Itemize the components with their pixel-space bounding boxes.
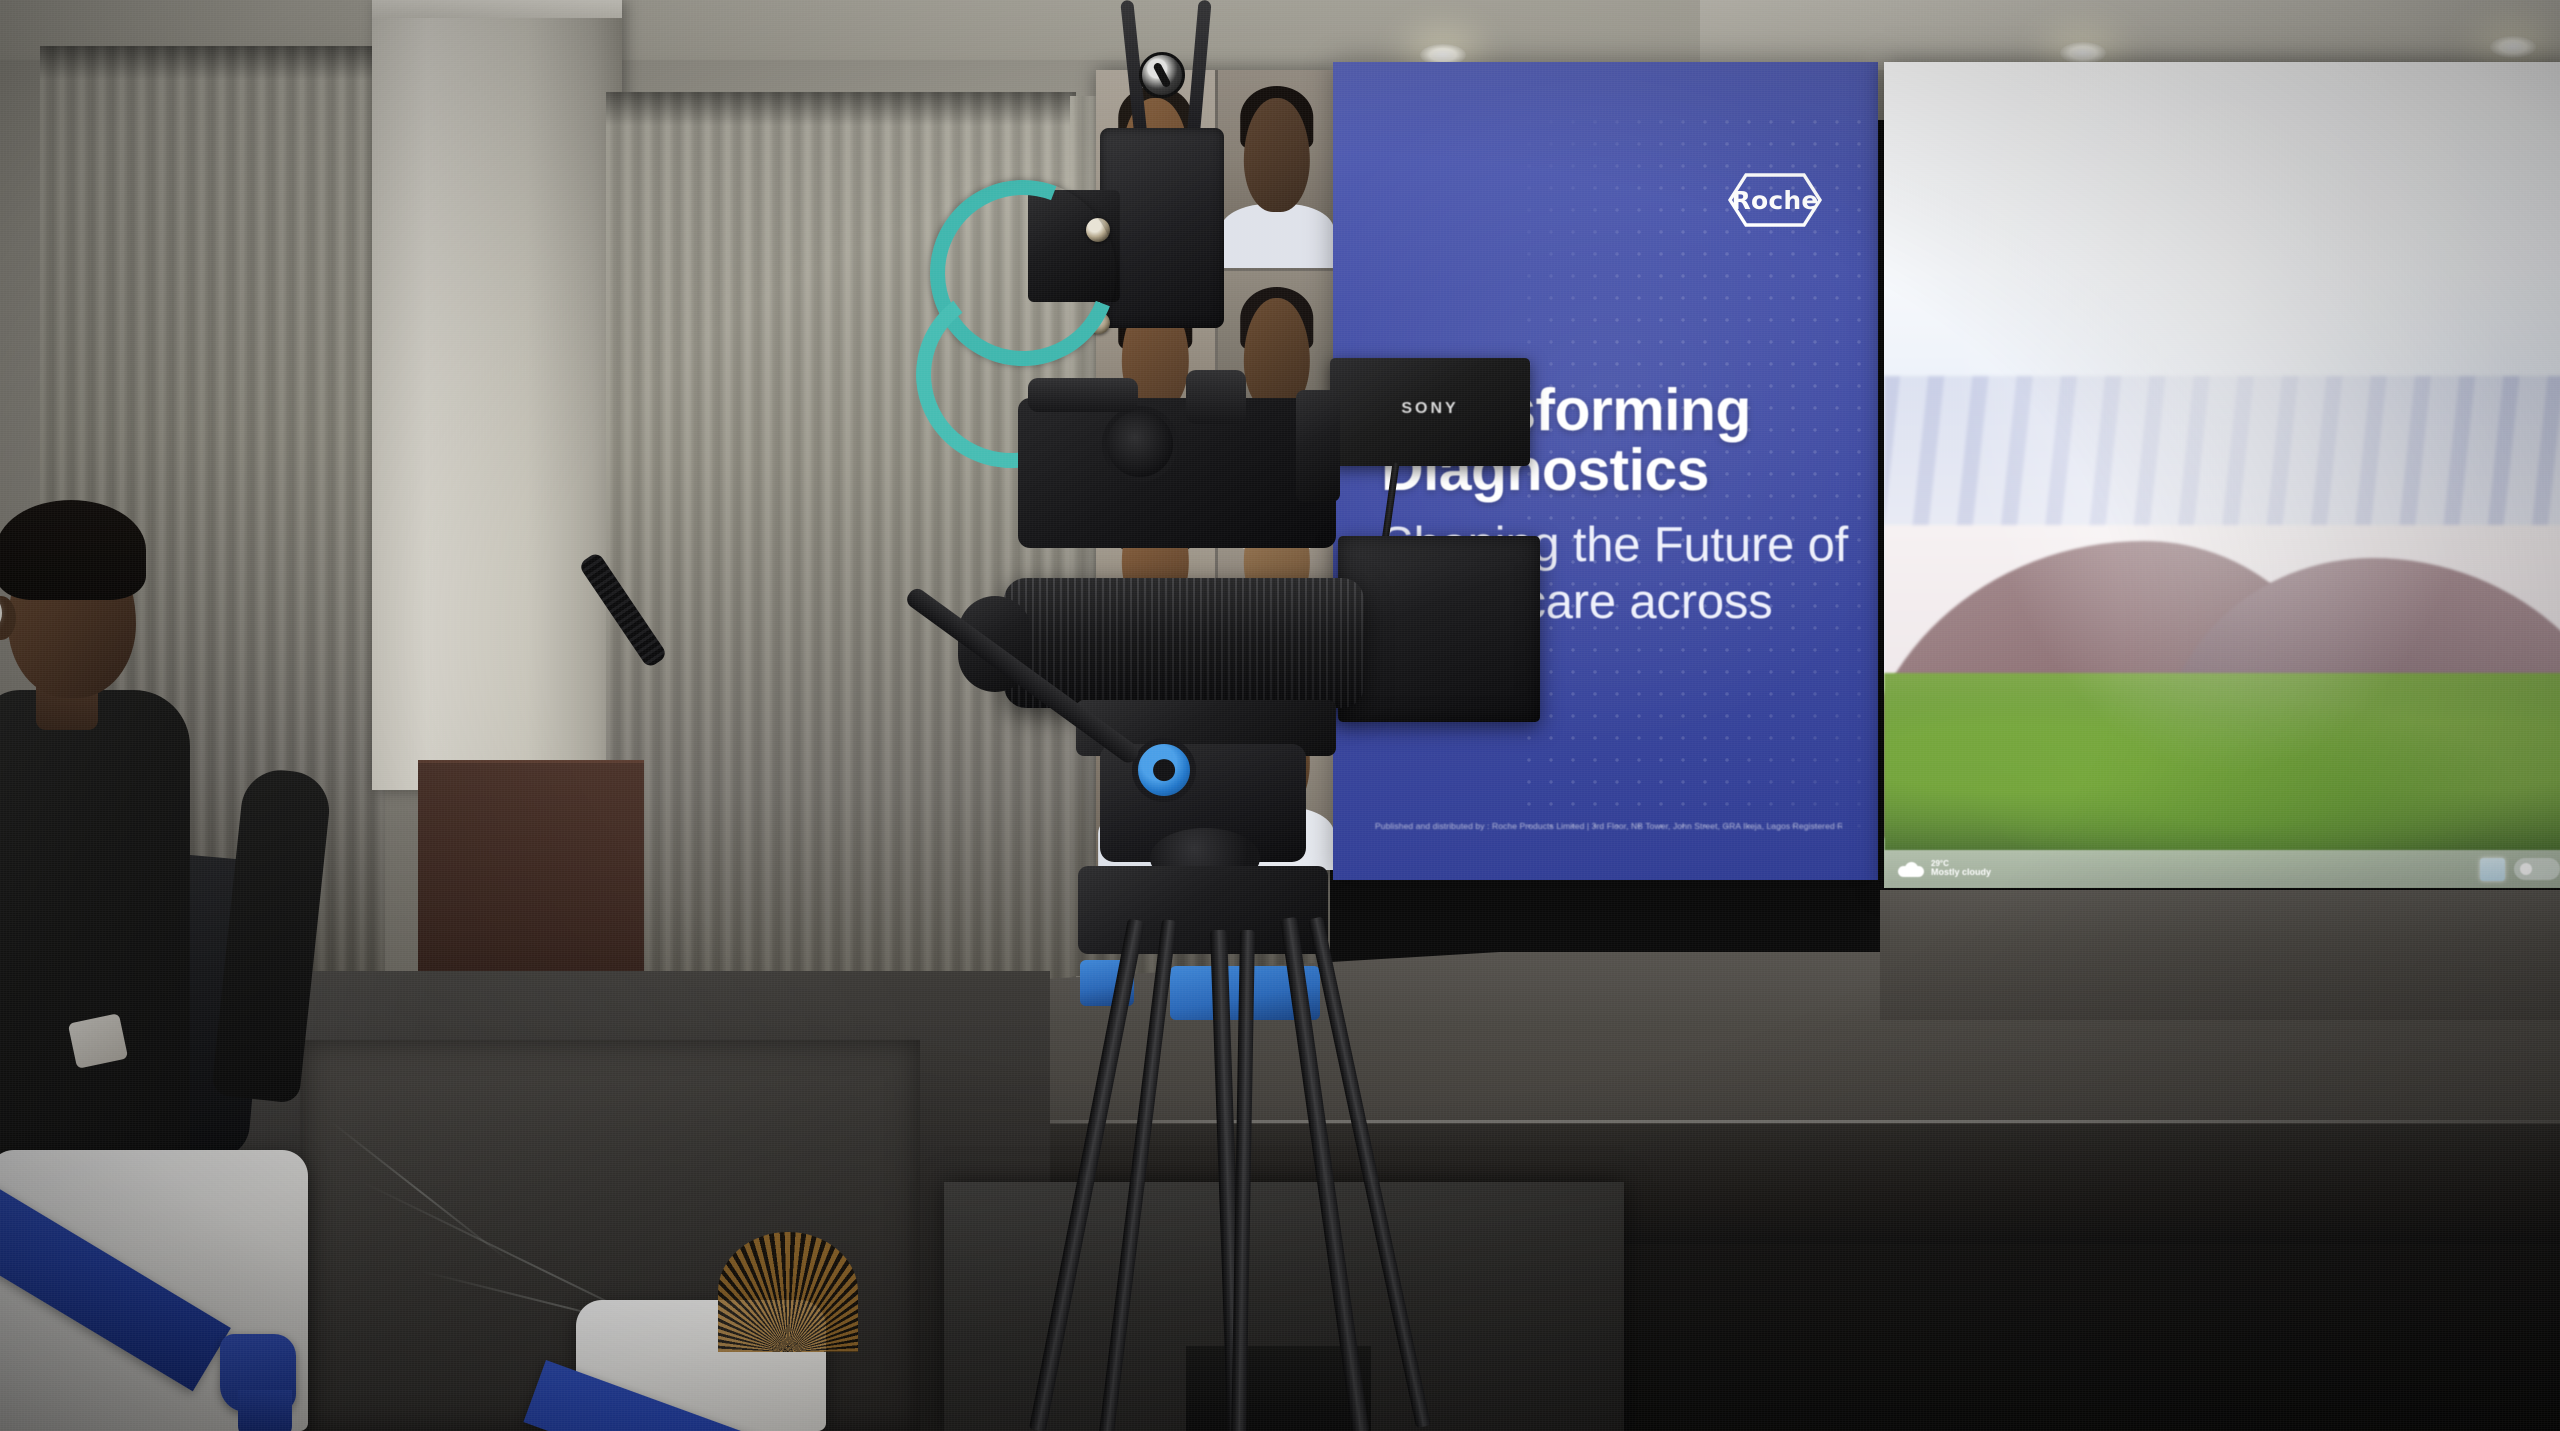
svg-text:Roche: Roche xyxy=(1732,186,1819,215)
drape-top-shadow xyxy=(40,46,385,80)
light-knob xyxy=(1139,52,1185,98)
weather-condition: Mostly cloudy xyxy=(1931,868,1991,878)
window-tile-icon[interactable] xyxy=(2480,858,2505,881)
search-pill[interactable] xyxy=(2514,858,2560,880)
search-icon xyxy=(2520,863,2532,875)
desktop-taskbar[interactable]: 29°C Mostly cloudy xyxy=(1884,850,2560,888)
cloud-icon xyxy=(1898,862,1924,877)
sony-monitor: SONY xyxy=(1330,358,1530,466)
camera-body xyxy=(1018,398,1336,548)
banquet-chair-1 xyxy=(0,1150,308,1431)
sony-brand-label: SONY xyxy=(1401,400,1458,418)
handle-riser xyxy=(1186,370,1246,424)
monitor-arm xyxy=(1296,390,1340,502)
person-torso xyxy=(0,690,190,1160)
lens-hood xyxy=(1338,536,1540,722)
person-hair xyxy=(0,500,146,600)
downlight-3 xyxy=(2490,36,2536,58)
top-handle xyxy=(1028,378,1138,412)
event-stage-photo: Roche Transforming Diagnostics Shaping t… xyxy=(0,0,2560,1431)
roche-hexagon-logo: Roche xyxy=(1714,170,1836,230)
viewfinder xyxy=(1102,406,1178,482)
gold-decor-fan xyxy=(718,1232,858,1352)
taskbar-tray[interactable] xyxy=(2480,858,2560,881)
pillar-cap xyxy=(372,0,622,18)
projection-screen-frame: 29°C Mostly cloudy xyxy=(1884,62,2560,888)
downlight-2 xyxy=(2060,42,2106,64)
counterbalance-knob xyxy=(1132,738,1196,802)
crew-member-left xyxy=(0,620,280,1160)
stage-deck-right-wing xyxy=(1880,890,2560,1020)
weather-text: 29°C Mostly cloudy xyxy=(1931,860,1991,878)
projection-screen: 29°C Mostly cloudy xyxy=(1884,62,2560,888)
ceiling-right-bay xyxy=(1700,0,2560,70)
chair-sash-tail-1 xyxy=(238,1390,292,1431)
video-camera-rig: SONY xyxy=(900,0,1660,1431)
taskbar-weather-widget[interactable]: 29°C Mostly cloudy xyxy=(1898,860,1991,878)
structural-pillar xyxy=(372,0,622,790)
